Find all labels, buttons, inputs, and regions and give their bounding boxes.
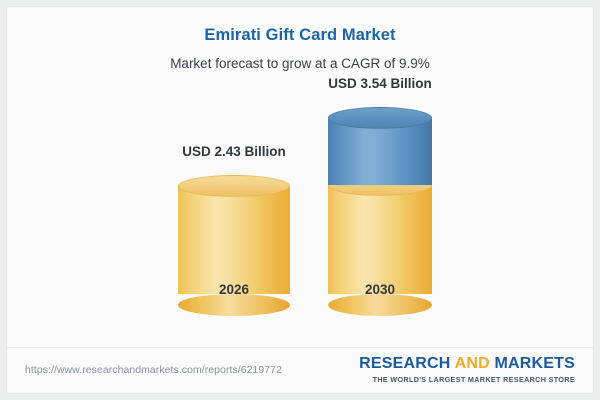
chart-title: Emirati Gift Card Market <box>7 26 593 45</box>
plot-area: USD 2.43 Billion 2026 USD 3.54 Billion <box>7 77 593 347</box>
bar-top-ellipse <box>178 175 290 197</box>
axis-label-2026: 2026 <box>219 282 249 297</box>
bar-cylinder-2030[interactable] <box>328 107 432 305</box>
logo-wordmark: RESEARCH AND MARKETS <box>359 356 575 373</box>
bar-segment-base <box>328 185 432 294</box>
logo-text-markets: MARKETS <box>494 355 575 372</box>
bar-base-ellipse <box>328 294 432 316</box>
value-label-2026: USD 2.43 Billion <box>182 144 286 159</box>
axis-label-2030: 2030 <box>365 282 395 297</box>
logo-text-research: RESEARCH <box>359 355 454 372</box>
chart-card: Emirati Gift Card Market Market forecast… <box>6 6 594 394</box>
value-label-2030: USD 3.54 Billion <box>328 76 432 91</box>
bar-top-ellipse <box>328 107 432 129</box>
bar-segment-base <box>178 186 290 294</box>
report-url[interactable]: https://www.researchandmarkets.com/repor… <box>25 364 282 376</box>
footer: https://www.researchandmarkets.com/repor… <box>7 347 593 393</box>
brand-logo[interactable]: RESEARCH AND MARKETS THE WORLD'S LARGEST… <box>359 356 575 384</box>
logo-text-and: AND <box>455 355 495 372</box>
logo-tagline: THE WORLD'S LARGEST MARKET RESEARCH STOR… <box>359 375 575 384</box>
bar-base-ellipse <box>178 294 290 316</box>
chart-frame: Emirati Gift Card Market Market forecast… <box>0 0 600 400</box>
chart-subtitle: Market forecast to grow at a CAGR of 9.9… <box>7 56 593 71</box>
